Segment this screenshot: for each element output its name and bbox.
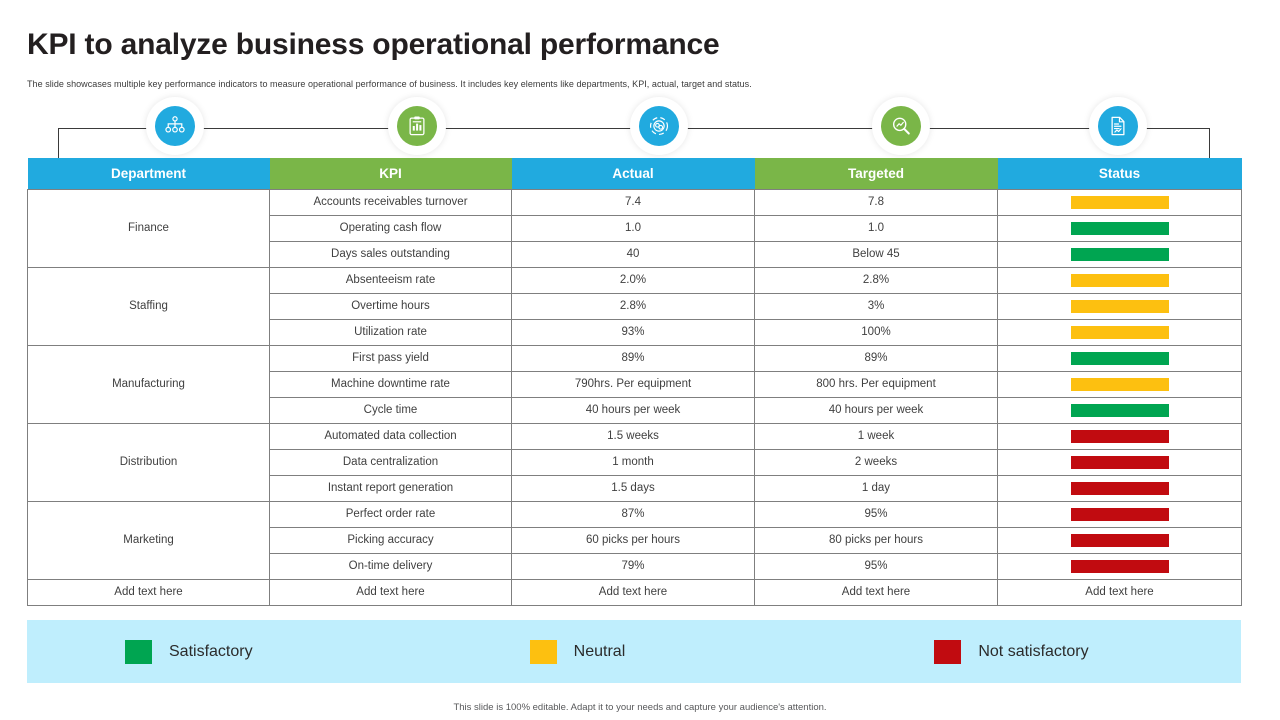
kpi-cell[interactable]: Automated data collection	[270, 423, 512, 449]
status-bar-neutral	[1071, 378, 1169, 391]
kpi-cell[interactable]: Instant report generation	[270, 475, 512, 501]
status-cell[interactable]	[998, 267, 1242, 293]
kpi-cell[interactable]: Utilization rate	[270, 319, 512, 345]
kpi-cell[interactable]: First pass yield	[270, 345, 512, 371]
legend-item-satisfactory: Satisfactory	[27, 640, 432, 664]
targeted-cell[interactable]: 7.8	[755, 189, 998, 215]
targeted-cell[interactable]: 80 picks per hours	[755, 527, 998, 553]
targeted-cell[interactable]: 3%	[755, 293, 998, 319]
placeholder-targeted-cell[interactable]: Add text here	[755, 579, 998, 605]
actual-cell[interactable]: 1.5 weeks	[512, 423, 755, 449]
column-header-actual[interactable]: Actual	[512, 158, 755, 189]
department-cell[interactable]: Marketing	[28, 501, 270, 579]
column-header-targeted[interactable]: Targeted	[755, 158, 998, 189]
actual-cell[interactable]: 60 picks per hours	[512, 527, 755, 553]
targeted-cell[interactable]: 100%	[755, 319, 998, 345]
kpi-cell[interactable]: Absenteeism rate	[270, 267, 512, 293]
targeted-cell[interactable]: 2.8%	[755, 267, 998, 293]
targeted-cell[interactable]: 1.0	[755, 215, 998, 241]
status-cell[interactable]	[998, 449, 1242, 475]
column-header-kpi[interactable]: KPI	[270, 158, 512, 189]
status-bar-not-satisfactory	[1071, 482, 1169, 495]
legend-label: Not satisfactory	[978, 643, 1088, 661]
footer-note: This slide is 100% editable. Adapt it to…	[0, 702, 1280, 713]
table-row: FinanceAccounts receivables turnover7.47…	[28, 189, 1242, 215]
targeted-cell[interactable]: 89%	[755, 345, 998, 371]
magnifier-analysis-icon	[881, 106, 921, 146]
status-bar-neutral	[1071, 300, 1169, 313]
kpi-cell[interactable]: Operating cash flow	[270, 215, 512, 241]
icon-node-3	[631, 100, 687, 152]
column-header-department[interactable]: Department	[28, 158, 270, 189]
actual-cell[interactable]: 40 hours per week	[512, 397, 755, 423]
table-row-placeholder: Add text hereAdd text hereAdd text hereA…	[28, 579, 1242, 605]
status-cell[interactable]	[998, 189, 1242, 215]
kpi-cell[interactable]: Picking accuracy	[270, 527, 512, 553]
actual-cell[interactable]: 2.0%	[512, 267, 755, 293]
status-cell[interactable]	[998, 241, 1242, 267]
status-cell[interactable]	[998, 423, 1242, 449]
status-bar-satisfactory	[1071, 352, 1169, 365]
icon-connector-band	[27, 100, 1241, 158]
column-header-status[interactable]: Status	[998, 158, 1242, 189]
kpi-table: DepartmentKPIActualTargetedStatus Financ…	[27, 158, 1242, 606]
status-cell[interactable]	[998, 345, 1242, 371]
targeted-cell[interactable]: 1 week	[755, 423, 998, 449]
legend-label: Satisfactory	[169, 643, 253, 661]
status-cell[interactable]	[998, 215, 1242, 241]
actual-cell[interactable]: 93%	[512, 319, 755, 345]
actual-cell[interactable]: 790hrs. Per equipment	[512, 371, 755, 397]
targeted-cell[interactable]: 800 hrs. Per equipment	[755, 371, 998, 397]
status-bar-neutral	[1071, 326, 1169, 339]
column-header-label: Status	[1099, 166, 1140, 181]
legend-swatch-not-satisfactory	[934, 640, 961, 664]
icon-node-5	[1090, 100, 1146, 152]
table-header-row: DepartmentKPIActualTargetedStatus	[28, 158, 1242, 189]
org-chart-icon	[155, 106, 195, 146]
legend-item-neutral: Neutral	[432, 640, 837, 664]
kpi-cell[interactable]: Accounts receivables turnover	[270, 189, 512, 215]
status-cell[interactable]	[998, 319, 1242, 345]
legend-swatch-satisfactory	[125, 640, 152, 664]
status-bar-neutral	[1071, 196, 1169, 209]
icon-node-1	[147, 100, 203, 152]
kpi-cell[interactable]: Days sales outstanding	[270, 241, 512, 267]
column-header-label: Actual	[612, 166, 653, 181]
table-row: DistributionAutomated data collection1.5…	[28, 423, 1242, 449]
kpi-table-head: DepartmentKPIActualTargetedStatus	[28, 158, 1242, 189]
status-cell[interactable]	[998, 397, 1242, 423]
kpi-cell[interactable]: Perfect order rate	[270, 501, 512, 527]
actual-cell[interactable]: 7.4	[512, 189, 755, 215]
placeholder-department-cell[interactable]: Add text here	[28, 579, 270, 605]
status-bar-neutral	[1071, 274, 1169, 287]
kpi-cell[interactable]: Cycle time	[270, 397, 512, 423]
status-cell[interactable]	[998, 293, 1242, 319]
status-bar-not-satisfactory	[1071, 430, 1169, 443]
actual-cell[interactable]: 89%	[512, 345, 755, 371]
status-bar-not-satisfactory	[1071, 560, 1169, 573]
kpi-table-body: FinanceAccounts receivables turnover7.47…	[28, 189, 1242, 605]
status-cell[interactable]	[998, 553, 1242, 579]
kpi-cell[interactable]: Machine downtime rate	[270, 371, 512, 397]
table-row: StaffingAbsenteeism rate2.0%2.8%	[28, 267, 1242, 293]
targeted-cell[interactable]: 1 day	[755, 475, 998, 501]
status-cell[interactable]	[998, 527, 1242, 553]
status-bar-not-satisfactory	[1071, 456, 1169, 469]
kpi-cell[interactable]: On-time delivery	[270, 553, 512, 579]
status-bar-not-satisfactory	[1071, 508, 1169, 521]
department-cell[interactable]: Staffing	[28, 267, 270, 345]
status-bar-satisfactory	[1071, 404, 1169, 417]
actual-cell[interactable]: 1.5 days	[512, 475, 755, 501]
actual-cell[interactable]: 79%	[512, 553, 755, 579]
status-cell[interactable]	[998, 501, 1242, 527]
table-row: MarketingPerfect order rate87%95%	[28, 501, 1242, 527]
department-cell[interactable]: Finance	[28, 189, 270, 267]
targeted-cell[interactable]: 95%	[755, 553, 998, 579]
status-cell[interactable]	[998, 475, 1242, 501]
placeholder-status-cell[interactable]: Add text here	[998, 579, 1242, 605]
targeted-cell[interactable]: Below 45	[755, 241, 998, 267]
target-gears-icon	[639, 106, 679, 146]
status-cell[interactable]	[998, 371, 1242, 397]
placeholder-kpi-cell[interactable]: Add text here	[270, 579, 512, 605]
status-bar-satisfactory	[1071, 248, 1169, 261]
actual-cell[interactable]: 1.0	[512, 215, 755, 241]
icon-node-4	[873, 100, 929, 152]
placeholder-actual-cell[interactable]: Add text here	[512, 579, 755, 605]
targeted-cell[interactable]: 95%	[755, 501, 998, 527]
actual-cell[interactable]: 87%	[512, 501, 755, 527]
kpi-cell[interactable]: Overtime hours	[270, 293, 512, 319]
page-subtitle: The slide showcases multiple key perform…	[27, 79, 752, 89]
icon-node-2	[389, 100, 445, 152]
legend-swatch-neutral	[530, 640, 557, 664]
status-bar-not-satisfactory	[1071, 534, 1169, 547]
actual-cell[interactable]: 40	[512, 241, 755, 267]
targeted-cell[interactable]: 2 weeks	[755, 449, 998, 475]
column-header-label: KPI	[379, 166, 402, 181]
department-cell[interactable]: Manufacturing	[28, 345, 270, 423]
table-row: ManufacturingFirst pass yield89%89%	[28, 345, 1242, 371]
targeted-cell[interactable]: 40 hours per week	[755, 397, 998, 423]
actual-cell[interactable]: 1 month	[512, 449, 755, 475]
column-header-label: Targeted	[848, 166, 904, 181]
clipboard-chart-icon	[397, 106, 437, 146]
legend-label: Neutral	[574, 643, 626, 661]
actual-cell[interactable]: 2.8%	[512, 293, 755, 319]
status-legend: SatisfactoryNeutralNot satisfactory	[27, 620, 1241, 683]
kpi-cell[interactable]: Data centralization	[270, 449, 512, 475]
column-header-label: Department	[111, 166, 186, 181]
department-cell[interactable]: Distribution	[28, 423, 270, 501]
legend-item-not-satisfactory: Not satisfactory	[836, 640, 1241, 664]
status-bar-satisfactory	[1071, 222, 1169, 235]
page-title: KPI to analyze business operational perf…	[27, 28, 719, 62]
report-document-icon	[1098, 106, 1138, 146]
